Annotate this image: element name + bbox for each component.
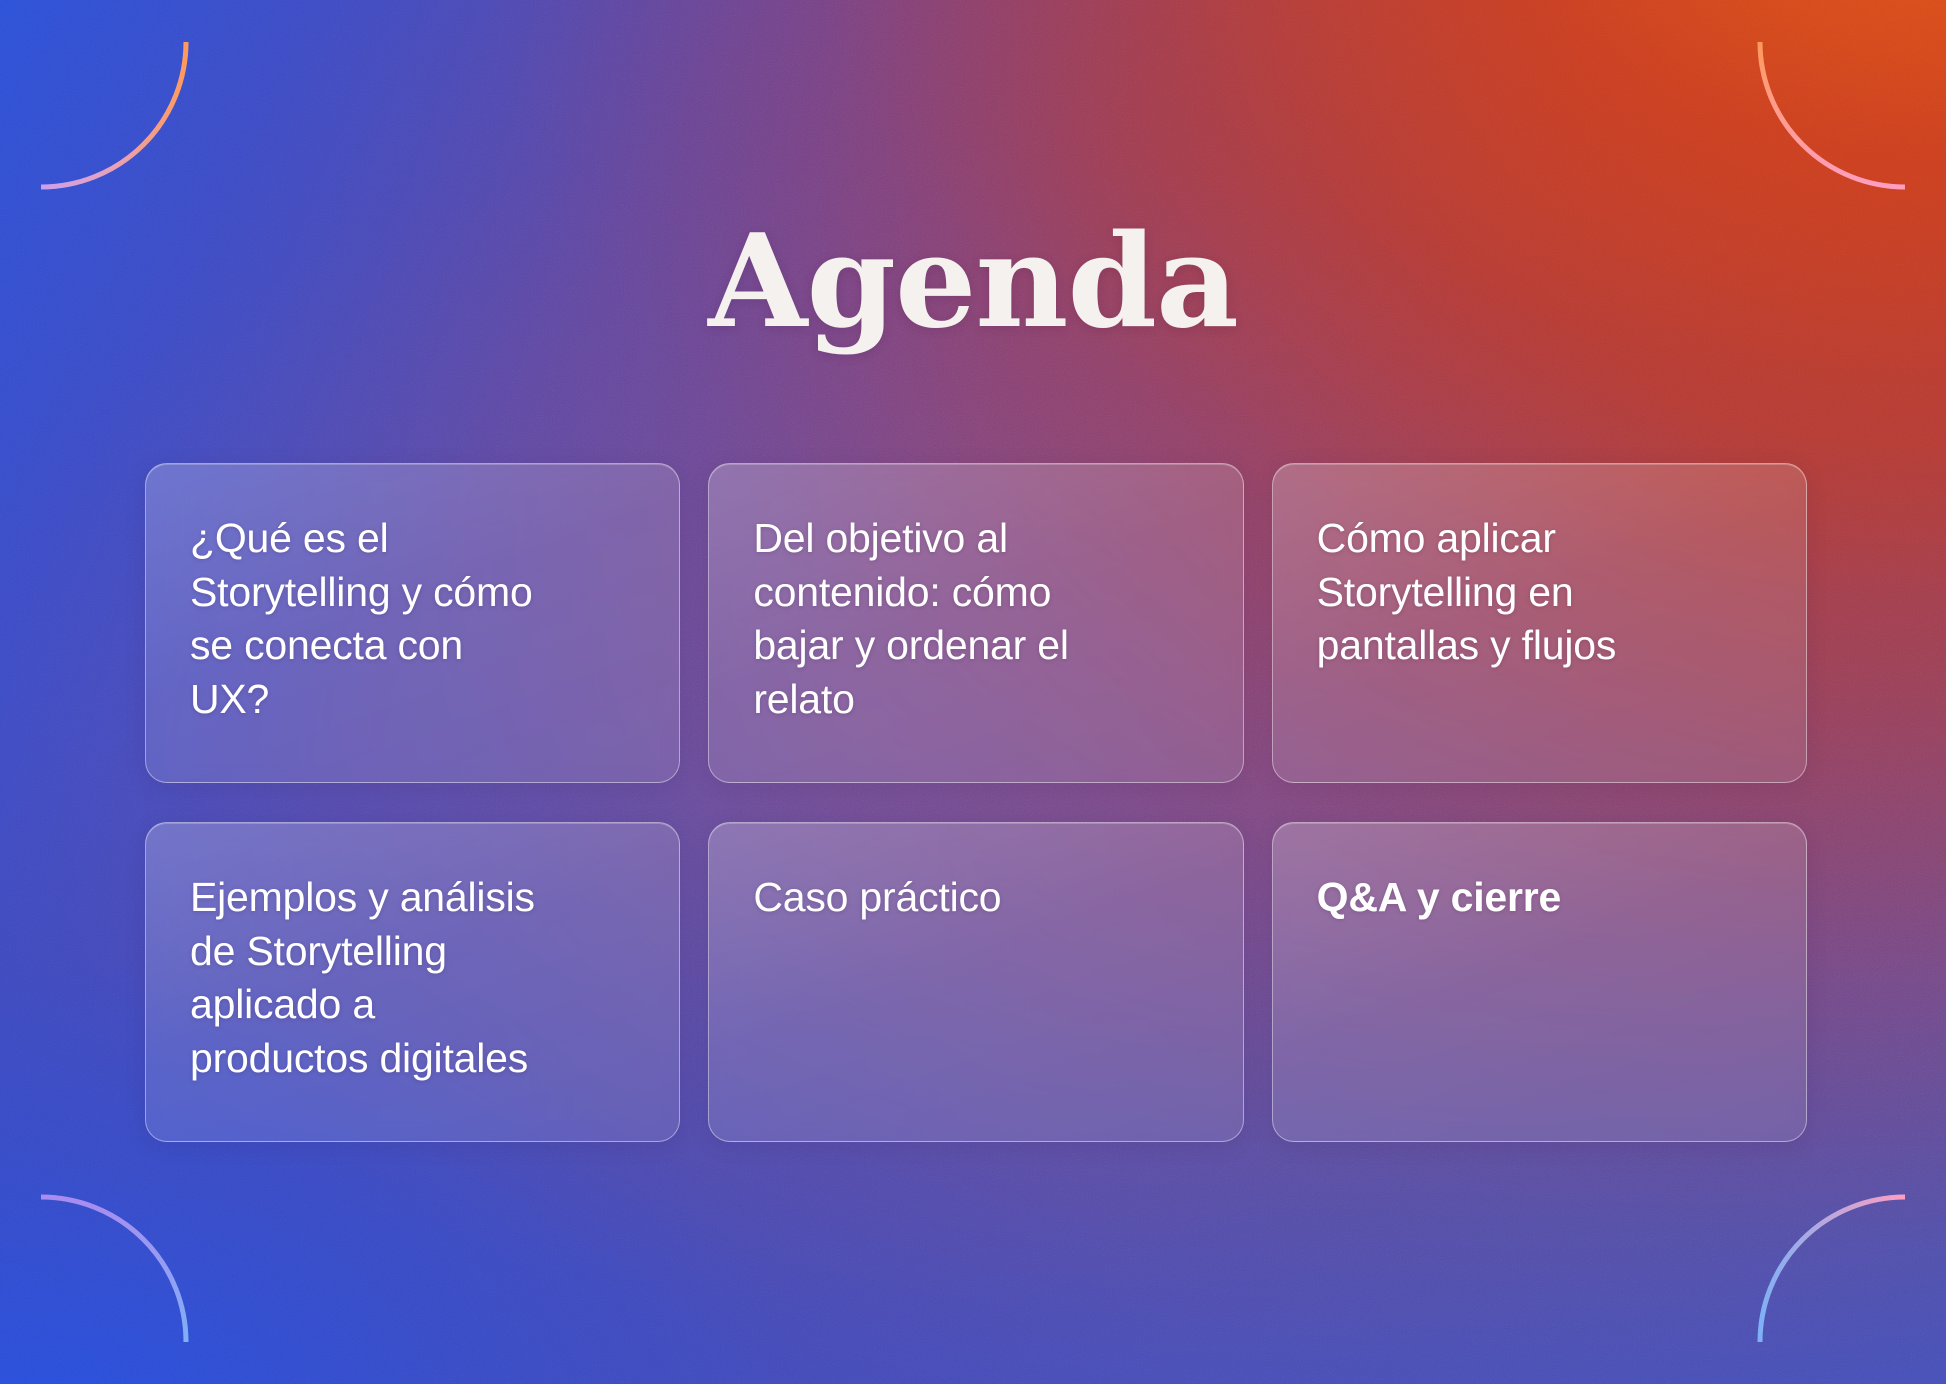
agenda-card-label: Caso práctico (753, 871, 1198, 925)
agenda-card-grid: ¿Qué es el Storytelling y cómo se conect… (145, 463, 1807, 1142)
agenda-card-label: Cómo aplicar Storytelling en pantallas y… (1317, 512, 1762, 673)
slide-content: Agenda ¿Qué es el Storytelling y cómo se… (0, 0, 1946, 1384)
agenda-card-label: Q&A y cierre (1317, 871, 1762, 925)
agenda-card-como-aplicar-storytelling[interactable]: Cómo aplicar Storytelling en pantallas y… (1272, 463, 1807, 783)
agenda-card-label: Ejemplos y análisis de Storytelling apli… (190, 871, 635, 1086)
agenda-card-label: ¿Qué es el Storytelling y cómo se conect… (190, 512, 635, 727)
agenda-card-ejemplos-y-analisis[interactable]: Ejemplos y análisis de Storytelling apli… (145, 822, 680, 1142)
agenda-card-qa-y-cierre[interactable]: Q&A y cierre (1272, 822, 1807, 1142)
agenda-card-que-es-storytelling[interactable]: ¿Qué es el Storytelling y cómo se conect… (145, 463, 680, 783)
page-title: Agenda (0, 218, 1946, 346)
agenda-card-del-objetivo-al-contenido[interactable]: Del objetivo al contenido: cómo bajar y … (708, 463, 1243, 783)
agenda-card-caso-practico[interactable]: Caso práctico (708, 822, 1243, 1142)
agenda-card-label: Del objetivo al contenido: cómo bajar y … (753, 512, 1198, 727)
agenda-slide: Agenda ¿Qué es el Storytelling y cómo se… (0, 0, 1946, 1384)
